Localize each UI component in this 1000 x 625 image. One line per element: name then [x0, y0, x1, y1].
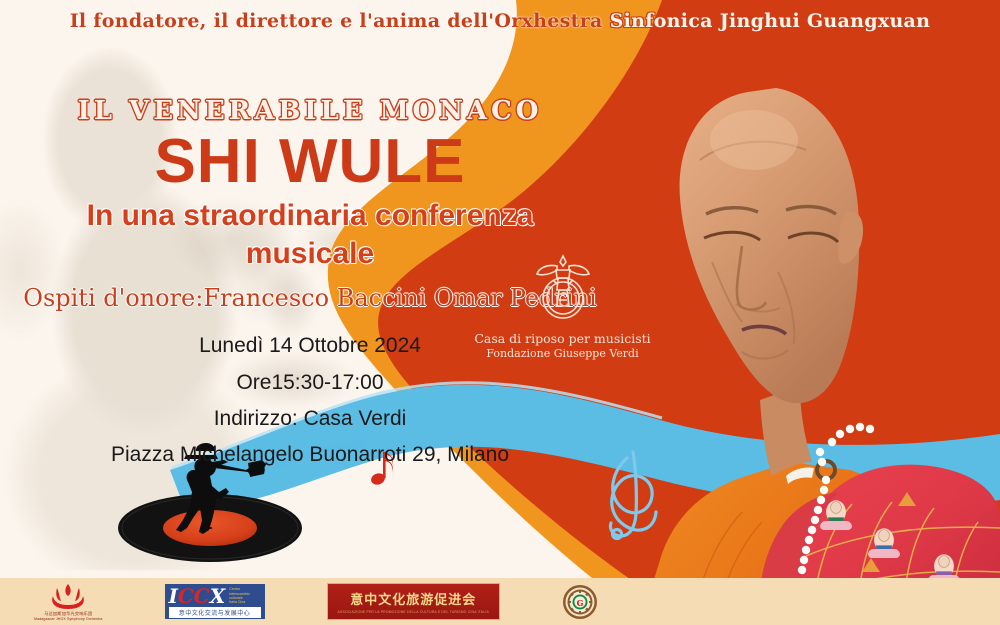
flame-vase-icon — [46, 583, 90, 610]
iccx-letter-x: X — [210, 584, 226, 608]
event-venue: Indirizzo: Casa Verdi — [0, 407, 620, 431]
china-italy-culture-promotion-plaque: 意中文化旅游促进会 ASSOCIAZIONE PER LA PROMOZIONE… — [327, 583, 500, 620]
event-time: Ore15:30-17:00 — [0, 371, 620, 395]
iccx-box: ICCX Centro interscambio culturale Itali… — [165, 584, 265, 619]
circular-gold-emblem: G — [562, 584, 598, 620]
iccx-letter-i: I — [169, 584, 178, 608]
casa-verdi-line1: Casa di riposo per musicisti — [474, 331, 650, 346]
emblem-center-letter: G — [577, 598, 584, 608]
iccx-letters-cc: CC — [178, 584, 210, 608]
event-poster: Il fondatore, il direttore e l'anima del… — [0, 0, 1000, 625]
iccx-wordmark: ICCX — [169, 586, 226, 606]
gear-circle-emblem-icon: G — [562, 584, 598, 620]
header-title-orchestra: Sinfonica Jinghui Guangxuan — [610, 10, 931, 32]
plaque-box: 意中文化旅游促进会 ASSOCIAZIONE PER LA PROMOZIONE… — [327, 583, 500, 620]
kicker-text: IL VENERABILE MONACO — [0, 96, 620, 126]
page-title: SHI WULE — [0, 130, 620, 193]
logo1-caption-en: Madagascar JHGX Symphony Orchestra — [34, 617, 103, 621]
iccx-side-text: Centro interscambio culturale Italia Cin… — [229, 587, 249, 605]
event-address: Piazza Michelangelo Buonarroti 29, Milan… — [0, 443, 620, 467]
header-banner: Il fondatore, il direttore e l'anima del… — [0, 0, 1000, 42]
header-title-italian: Il fondatore, il direttore e l'anima del… — [70, 10, 610, 32]
iccx-caption-cn: 意中文化交流与发展中心 — [169, 607, 261, 618]
subtitle-line-1: In una straordinaria conferenza — [0, 199, 620, 233]
casa-verdi-line2: Fondazione Giuseppe Verdi — [470, 347, 655, 361]
iccx-logo: ICCX Centro interscambio culturale Itali… — [165, 584, 265, 619]
casa-verdi-name: Casa di riposo per musicisti Fondazione … — [470, 331, 655, 360]
madagascar-symphony-orchestra-logo: 马达加斯加华光交响乐团 Madagascar JHGX Symphony Orc… — [34, 583, 103, 621]
casa-verdi-crest-icon — [523, 250, 603, 324]
plaque-caption-it: ASSOCIAZIONE PER LA PROMOZIONE DELLA CUL… — [338, 610, 489, 614]
plaque-caption-cn: 意中文化旅游促进会 — [350, 589, 476, 608]
sponsor-logo-strip: 马达加斯加华光交响乐团 Madagascar JHGX Symphony Orc… — [0, 578, 1000, 625]
casa-verdi-logo: Casa di riposo per musicisti Fondazione … — [470, 250, 655, 360]
header-title: Il fondatore, il direttore e l'anima del… — [70, 10, 931, 32]
